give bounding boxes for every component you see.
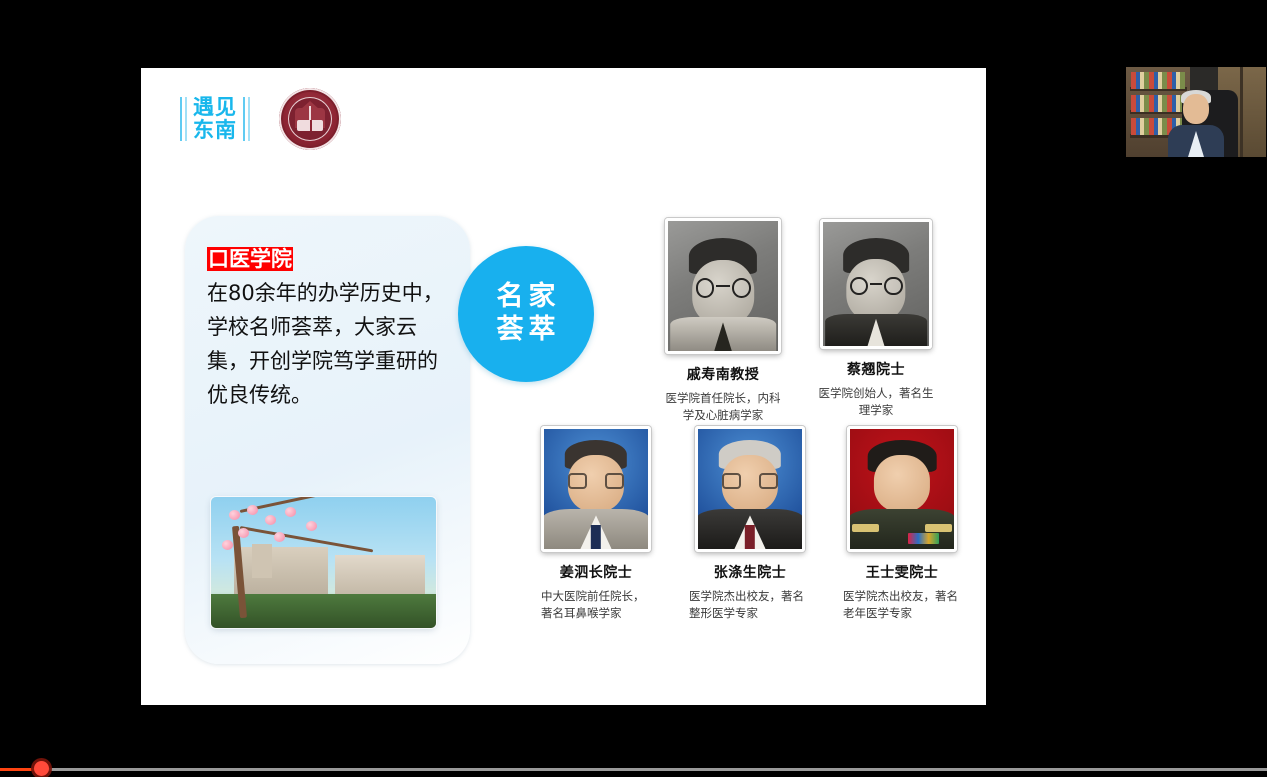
figure-name: 张涤生院士 [665,562,835,582]
wordmark-line-1: 遇见 [193,97,237,118]
wordmark-right-bars [243,97,250,141]
figure-card: 姜泗长院士 中大医院前任院长，著名耳鼻喉学家 [511,426,681,622]
qi-shounan-portrait [665,218,781,354]
presentation-slide: 遇见 东南 口医学院 在80余年的办学历史中，学校名师荟萃，大家云集，开创学院笃… [141,68,986,705]
portrait-glasses-right [884,277,902,296]
cherry-blossom [285,507,296,517]
figure-description: 医学院创始人，著名生理学家 [791,385,961,419]
speaker-video-thumbnail[interactable] [1125,66,1267,158]
portrait-glasses-left [696,278,715,298]
cai-qiao-portrait [820,219,932,349]
shelf-books [1131,95,1185,112]
zhang-disheng-portrait [695,426,805,552]
uniform-epaulette-right [925,524,952,532]
uniform-medal-ribbons [908,533,939,544]
badge-line-2: 荟萃 [492,314,561,347]
figure-name: 戚寿南教授 [638,364,808,384]
portrait-glasses-left [722,473,741,489]
portrait-glasses-bridge [870,283,883,285]
figure-card: 戚寿南教授 医学院首任院长，内科学及心脏病学家 [638,218,808,424]
portrait-face [874,455,930,511]
seal-open-book-glyph [297,120,323,131]
wordmark-line-2: 东南 [193,120,237,141]
program-wordmark: 遇见 东南 [161,86,269,152]
progress-handle[interactable] [34,761,49,776]
figure-card: 张涤生院士 医学院杰出校友，著名整形医学专家 [665,426,835,622]
cherry-blossom [247,505,258,515]
progress-track[interactable] [0,768,1267,771]
portrait-glasses-left [568,473,587,489]
cherry-blossom [306,521,317,531]
media-player-bar[interactable] [0,755,1267,777]
cherry-blossom [274,532,285,542]
portrait-glasses-left [850,277,868,296]
portrait-glasses-bridge [716,285,729,287]
cherry-blossom [238,528,249,538]
campus-photo [211,497,436,628]
wordmark-text: 遇见 东南 [187,97,243,141]
intro-paragraph-text: 在80余年的办学历史中，学校名师荟萃，大家云集，开创学院笃学重研的优良传统。 [207,276,454,412]
campus-building-left [234,547,329,599]
campus-building-right [335,555,425,597]
figure-name: 姜泗长院士 [511,562,681,582]
figure-card: 蔡翘院士 医学院创始人，著名生理学家 [791,219,961,419]
cherry-blossom [229,510,240,520]
brand-header: 遇见 东南 [161,86,341,152]
jiang-sichang-portrait [541,426,651,552]
cherry-blossom [222,540,233,550]
portrait-tie [745,525,755,549]
screen-root: 遇见 东南 口医学院 在80余年的办学历史中，学校名师荟萃，大家云集，开创学院笃… [0,0,1267,777]
badge-line-1: 名家 [492,281,561,314]
figure-description: 医学院首任院长，内科学及心脏病学家 [638,390,808,424]
portrait-glasses-right [759,473,778,489]
wang-shiwen-portrait [847,426,957,552]
figure-name: 蔡翘院士 [791,359,961,379]
highlight-badge: 名家 荟萃 [458,246,594,382]
uniform-epaulette-left [852,524,879,532]
figure-description: 中大医院前任院长，著名耳鼻喉学家 [511,588,681,622]
cherry-blossom [265,515,276,525]
speaker-head [1183,94,1209,124]
intro-paragraph: 口医学院 在80余年的办学历史中，学校名师荟萃，大家云集，开创学院笃学重研的优良… [207,242,454,412]
shelf-books [1131,72,1185,89]
figure-card: 王士雯院士 医学院杰出校友，著名老年医学专家 [817,426,987,622]
section-highlight-label: 口医学院 [207,247,293,271]
intro-text-card: 口医学院 在80余年的办学历史中，学校名师荟萃，大家云集，开创学院笃学重研的优良… [185,216,470,664]
portrait-tie [591,525,601,549]
wordmark-left-bars [180,97,187,141]
campus-tower [252,544,272,578]
portrait-glasses-right [732,278,751,298]
figure-name: 王士雯院士 [817,562,987,582]
figure-description: 医学院杰出校友，著名老年医学专家 [817,588,987,622]
figure-description: 医学院杰出校友，著名整形医学专家 [665,588,835,622]
university-seal-icon [279,88,341,150]
seal-inner-ring [288,97,332,141]
portrait-glasses-right [605,473,624,489]
